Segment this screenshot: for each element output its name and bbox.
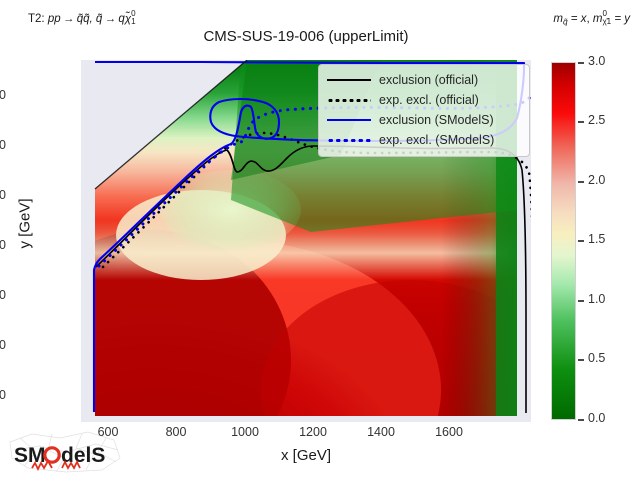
legend-item-exp-excl-official: exp. excl. (official) xyxy=(327,90,521,110)
legend-item-exclusion-smodels: exclusion (SModelS) xyxy=(327,110,521,130)
legend-key-dotted-black xyxy=(327,94,371,106)
y-axis-label: y [GeV] xyxy=(17,169,34,279)
colorbar-tick xyxy=(578,419,584,421)
smodels-logo: SM delS xyxy=(6,428,126,476)
legend-key-solid-black xyxy=(327,74,371,86)
legend-label: exclusion (official) xyxy=(379,73,478,87)
logo-accent-circle xyxy=(45,448,59,462)
colorbar-tick xyxy=(578,359,584,361)
colorbar-tick xyxy=(578,181,584,183)
xtick-label: 800 xyxy=(156,425,196,439)
colorbar-tick xyxy=(578,300,584,302)
x-axis-label: x [GeV] xyxy=(81,447,531,464)
colorbar-tick xyxy=(578,240,584,242)
page-title: CMS-SUS-19-006 (upperLimit) xyxy=(81,28,531,45)
topology-label: T2: pp → q̃q̃, q̃ → qχ̃01 xyxy=(28,10,136,25)
legend-item-exclusion-official: exclusion (official) xyxy=(327,70,521,90)
ytick-label: 200 xyxy=(0,338,6,352)
xtick-label: 1600 xyxy=(426,425,472,439)
xtick-label: 1400 xyxy=(358,425,404,439)
neutralino-indices: 01 xyxy=(131,10,135,25)
xtick-label: 1000 xyxy=(222,425,268,439)
legend-key-solid-blue xyxy=(327,114,371,126)
ytick-label: 1000 xyxy=(0,138,6,152)
colorbar-tick-label: 0.0 xyxy=(588,411,605,425)
topology-prefix: T2: xyxy=(28,13,45,25)
colorbar-tick-label: 2.0 xyxy=(588,173,605,187)
colorbar-tick-label: 1.0 xyxy=(588,292,605,306)
colorbar xyxy=(551,62,576,420)
ytick-label: 0 xyxy=(0,388,6,402)
colorbar-tick-label: 2.5 xyxy=(588,113,605,127)
ytick-label: 400 xyxy=(0,288,6,302)
colorbar-tick xyxy=(578,121,584,123)
legend: exclusion (official) exp. excl. (officia… xyxy=(318,64,530,157)
colorbar-tick xyxy=(578,62,584,64)
colorbar-tick-label: 3.0 xyxy=(588,54,605,68)
legend-key-dotted-blue xyxy=(327,134,371,146)
ytick-label: 800 xyxy=(0,188,6,202)
figure-canvas: T2: pp → q̃q̃, q̃ → qχ̃01 mq̃ = x, m0χ̃1… xyxy=(0,0,640,480)
ytick-label: 1200 xyxy=(0,88,6,102)
logo-text-right: delS xyxy=(61,444,105,467)
axes-definition: mq̃ = x, m0χ̃1 = y xyxy=(553,10,630,27)
legend-item-exp-excl-smodels: exp. excl. (SModelS) xyxy=(327,130,521,150)
ytick-label: 600 xyxy=(0,238,6,252)
xtick-label: 1200 xyxy=(290,425,336,439)
colorbar-tick-label: 1.5 xyxy=(588,232,605,246)
legend-label: exp. excl. (official) xyxy=(379,93,479,107)
legend-label: exp. excl. (SModelS) xyxy=(379,133,494,147)
legend-label: exclusion (SModelS) xyxy=(379,113,494,127)
topology-process: pp → q̃q̃, q̃ → q xyxy=(48,13,125,25)
colorbar-tick-label: 0.5 xyxy=(588,351,605,365)
